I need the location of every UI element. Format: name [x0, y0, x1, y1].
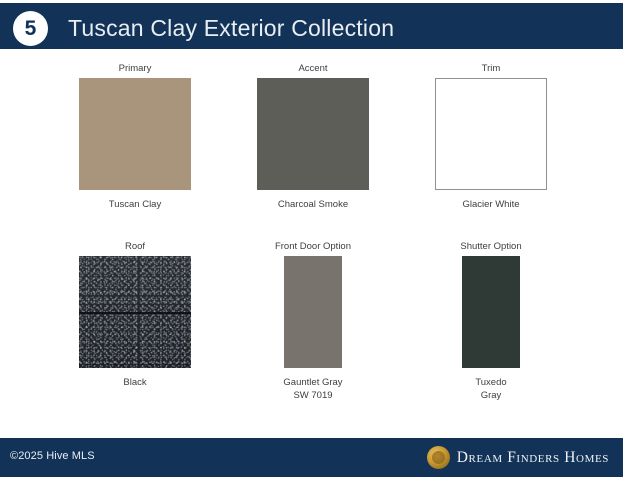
swatch-category-label: Trim: [402, 62, 580, 78]
color-swatch[interactable]: [435, 78, 547, 190]
color-swatch[interactable]: [79, 78, 191, 190]
swatch-category-label: Roof: [46, 240, 224, 256]
swatch-row: Roof Black Front Door Option Gauntlet Gr…: [0, 240, 623, 418]
swatch-name-label: Gauntlet Gray SW 7019: [224, 372, 402, 402]
brand-name-label: Dream Finders Homes: [457, 449, 609, 467]
shingle-seam: [79, 312, 191, 314]
color-swatch[interactable]: [462, 256, 520, 368]
collection-sheet: Tuscan Clay Exterior Collection 5 Primar…: [0, 0, 623, 480]
swatch-name-label: Tuxedo Gray: [402, 372, 580, 402]
wax-seal-icon: [427, 446, 450, 469]
color-swatch[interactable]: [257, 78, 369, 190]
swatch-box-wrap: [402, 256, 580, 372]
slide-number-label: 5: [13, 11, 48, 46]
swatch-category-label: Accent: [224, 62, 402, 78]
shingle-seam: [79, 364, 191, 365]
swatch-grid: Primary Tuscan Clay Accent Charcoal Smok…: [0, 62, 623, 418]
swatch-cell-trim[interactable]: Trim Glacier White: [402, 62, 580, 240]
slide-number-badge: 5: [13, 11, 48, 46]
brand-logo: Dream Finders Homes: [427, 444, 609, 471]
swatch-category-label: Primary: [46, 62, 224, 78]
copyright-label: ©2025 Hive MLS: [10, 450, 95, 462]
color-swatch[interactable]: [284, 256, 342, 368]
swatch-box-wrap: [224, 256, 402, 372]
swatch-box-wrap: [46, 78, 224, 194]
swatch-cell-roof[interactable]: Roof Black: [46, 240, 224, 418]
swatch-cell-front-door[interactable]: Front Door Option Gauntlet Gray SW 7019: [224, 240, 402, 418]
header-bar: Tuscan Clay Exterior Collection: [0, 3, 623, 49]
swatch-name-label: Tuscan Clay: [46, 194, 224, 212]
swatch-box-wrap: [402, 78, 580, 194]
swatch-category-label: Shutter Option: [402, 240, 580, 256]
swatch-name-label: Glacier White: [402, 194, 580, 212]
swatch-row: Primary Tuscan Clay Accent Charcoal Smok…: [0, 62, 623, 240]
swatch-name-label: Charcoal Smoke: [224, 194, 402, 212]
footer-bar: ©2025 Hive MLS Dream Finders Homes: [0, 438, 623, 477]
swatch-cell-primary[interactable]: Primary Tuscan Clay: [46, 62, 224, 240]
swatch-category-label: Front Door Option: [224, 240, 402, 256]
swatch-cell-accent[interactable]: Accent Charcoal Smoke: [224, 62, 402, 240]
shingle-texture-swatch[interactable]: [79, 256, 191, 368]
swatch-box-wrap: [224, 78, 402, 194]
swatch-box-wrap: [46, 256, 224, 372]
page-title: Tuscan Clay Exterior Collection: [68, 14, 394, 42]
swatch-cell-shutter[interactable]: Shutter Option Tuxedo Gray: [402, 240, 580, 418]
swatch-name-label: Black: [46, 372, 224, 390]
